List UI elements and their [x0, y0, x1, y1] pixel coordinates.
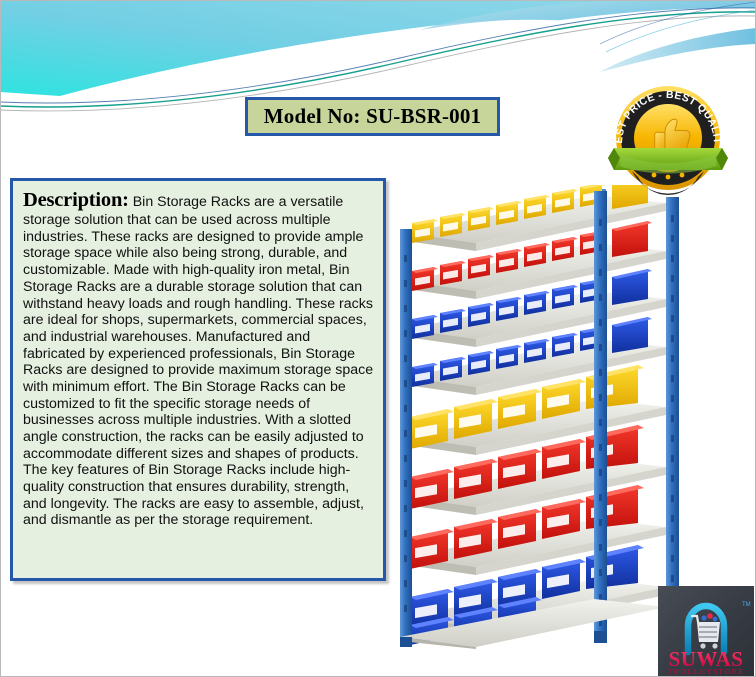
bin-storage-rack-image — [398, 185, 708, 650]
description-body: Bin Storage Racks are a versatile storag… — [23, 194, 373, 528]
model-number-box: Model No: SU-BSR-001 — [245, 97, 500, 136]
description-paragraph: Description: Bin Storage Racks are a ver… — [23, 188, 374, 529]
best-price-best-quality-badge: BEST PRICE - BEST QUALITY — [602, 78, 734, 196]
description-title: Description: — [23, 189, 129, 211]
model-number-label: Model No: SU-BSR-001 — [264, 104, 482, 129]
trademark-label: TM — [742, 602, 751, 608]
description-box: Description: Bin Storage Racks are a ver… — [10, 178, 386, 581]
product-flyer-page: Model No: SU-BSR-001 — [0, 0, 756, 677]
company-logo: TM SUWAS TROLLEYSTORE — [658, 586, 754, 676]
badge-ribbon — [608, 148, 728, 174]
logo-tagline: TROLLEYSTORE — [667, 667, 744, 676]
